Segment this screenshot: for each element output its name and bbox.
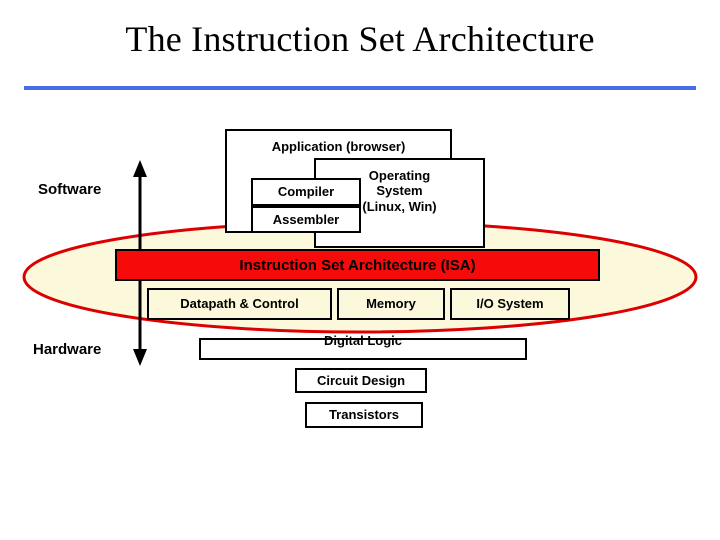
isa-layer-diagram: Software Hardware Application (browser) … <box>0 0 720 540</box>
layer-box-assembler[interactable]: Assembler <box>251 206 361 233</box>
layer-label-isa: Instruction Set Architecture (ISA) <box>239 257 475 274</box>
layer-label-compiler: Compiler <box>278 184 334 199</box>
layer-label-circuit-design: Circuit Design <box>317 373 405 388</box>
layer-label-application: Application (browser) <box>272 139 406 154</box>
layer-label-digital-logic: Digital Logic <box>199 333 527 348</box>
layer-label-datapath-control: Datapath & Control <box>180 296 298 311</box>
layer-label-memory: Memory <box>366 296 416 311</box>
layer-box-compiler[interactable]: Compiler <box>251 178 361 206</box>
layer-box-isa[interactable]: Instruction Set Architecture (ISA) <box>115 249 600 281</box>
layer-box-io-system[interactable]: I/O System <box>450 288 570 320</box>
axis-label-hardware: Hardware <box>33 341 101 358</box>
layer-box-memory[interactable]: Memory <box>337 288 445 320</box>
layer-box-datapath-control[interactable]: Datapath & Control <box>147 288 332 320</box>
layer-label-transistors: Transistors <box>329 407 399 422</box>
layer-label-operating-system: Operating System (Linux, Win) <box>362 168 436 214</box>
layer-box-transistors[interactable]: Transistors <box>305 402 423 428</box>
layer-label-io-system: I/O System <box>476 296 543 311</box>
axis-label-software: Software <box>38 181 101 198</box>
layer-label-assembler: Assembler <box>273 212 339 227</box>
layer-box-circuit-design[interactable]: Circuit Design <box>295 368 427 393</box>
slide-canvas: The Instruction Set Architecture Softwar… <box>0 0 720 540</box>
